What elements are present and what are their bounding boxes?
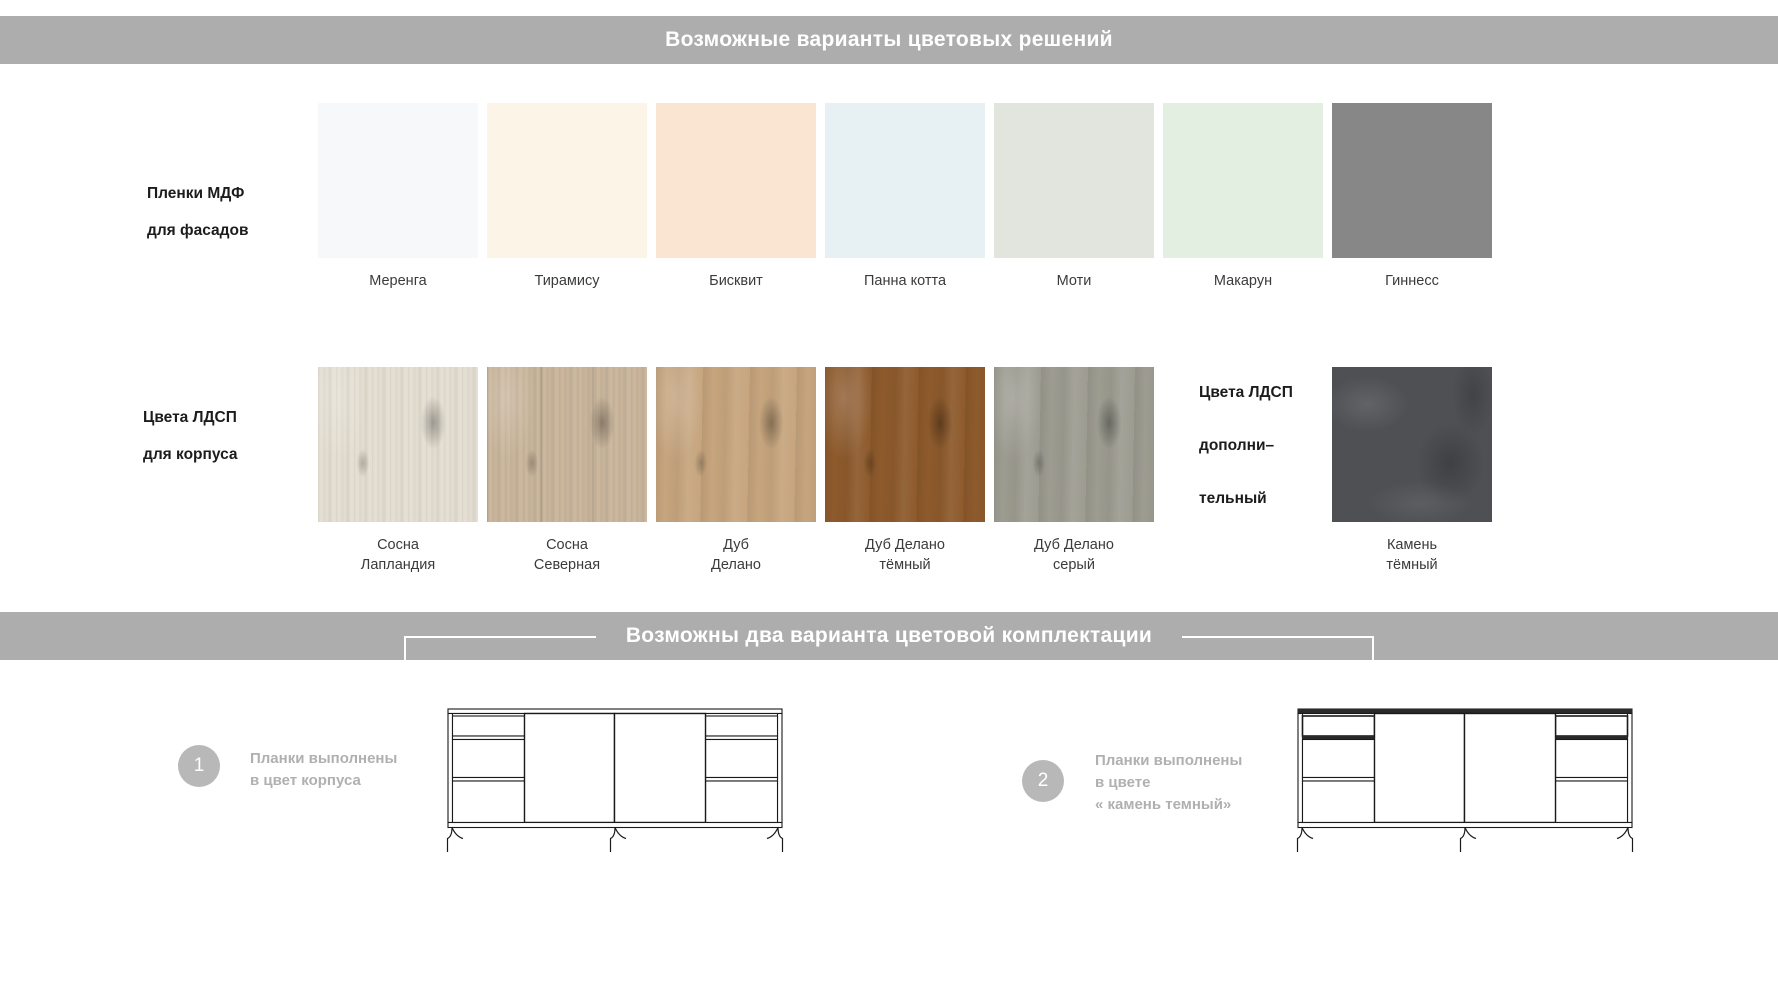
mdf-section-label-line2: для фасадов bbox=[147, 213, 248, 249]
swatch-merenga[interactable] bbox=[318, 103, 478, 258]
option-2-badge[interactable]: 2 bbox=[1022, 760, 1064, 802]
sideboard-drawing-variant-2 bbox=[1280, 700, 1650, 860]
stone-texture-layer bbox=[1332, 367, 1492, 522]
wood-knot-layer bbox=[487, 367, 647, 522]
option-1-number: 1 bbox=[194, 755, 205, 777]
swatch-caption-kamen-temnyy: Камень тёмный bbox=[1317, 535, 1507, 575]
ldsp-section-label-line1: Цвета ЛДСП bbox=[143, 400, 237, 436]
swatch-caption-sosna-laplandiya: Сосна Лапландия bbox=[303, 535, 493, 575]
swatch-makarun[interactable] bbox=[1163, 103, 1323, 258]
swatch-caption-sosna-severnaya: Сосна Северная bbox=[472, 535, 662, 575]
swatch-caption-makarun: Макарун bbox=[1148, 271, 1338, 291]
swatch-ginness[interactable] bbox=[1332, 103, 1492, 258]
swatch-moti[interactable] bbox=[994, 103, 1154, 258]
swatch-caption-biskvit: Бисквит bbox=[641, 271, 831, 291]
swatch-kamen-temnyy[interactable] bbox=[1332, 367, 1492, 522]
top-banner-title: Возможные варианты цветовых решений bbox=[665, 28, 1113, 52]
option-1-text: Планки выполнены в цвет корпуса bbox=[250, 748, 397, 792]
swatch-caption-tiramisu: Тирамису bbox=[472, 271, 662, 291]
swatch-biskvit[interactable] bbox=[656, 103, 816, 258]
ldsp-extra-label-line2: дополни– bbox=[1199, 428, 1274, 464]
mdf-section-label-line1: Пленки МДФ bbox=[147, 176, 244, 212]
swatch-panna-kotta[interactable] bbox=[825, 103, 985, 258]
swatch-caption-ginness: Гиннесс bbox=[1317, 271, 1507, 291]
wood-knot-layer bbox=[656, 367, 816, 522]
option-2-number: 2 bbox=[1038, 770, 1049, 792]
option-2-text: Планки выполнены в цвете « камень темный… bbox=[1095, 750, 1242, 816]
ldsp-section-label-line2: для корпуса bbox=[143, 437, 238, 473]
ldsp-extra-label-line1: Цвета ЛДСП bbox=[1199, 375, 1293, 411]
swatch-tiramisu[interactable] bbox=[487, 103, 647, 258]
wood-knot-layer bbox=[994, 367, 1154, 522]
swatch-caption-dub-delano-temnyy: Дуб Делано тёмный bbox=[810, 535, 1000, 575]
option-1-badge[interactable]: 1 bbox=[178, 745, 220, 787]
swatch-sosna-severnaya[interactable] bbox=[487, 367, 647, 522]
top-banner: Возможные варианты цветовых решений bbox=[0, 16, 1778, 64]
swatch-caption-merenga: Меренга bbox=[303, 271, 493, 291]
swatch-dub-delano-seryy[interactable] bbox=[994, 367, 1154, 522]
swatch-caption-moti: Моти bbox=[979, 271, 1169, 291]
wood-knot-layer bbox=[318, 367, 478, 522]
swatch-caption-dub-delano: Дуб Делано bbox=[641, 535, 831, 575]
middle-banner: Возможны два варианта цветовой комплекта… bbox=[0, 612, 1778, 660]
swatch-sosna-laplandiya[interactable] bbox=[318, 367, 478, 522]
ldsp-extra-label-line3: тельный bbox=[1199, 481, 1267, 517]
color-options-page: Возможные варианты цветовых решений Плен… bbox=[0, 0, 1778, 1000]
swatch-caption-dub-delano-seryy: Дуб Делано серый bbox=[979, 535, 1169, 575]
middle-banner-title: Возможны два варианта цветовой комплекта… bbox=[626, 624, 1152, 648]
wood-knot-layer bbox=[825, 367, 985, 522]
swatch-dub-delano-temnyy[interactable] bbox=[825, 367, 985, 522]
swatch-caption-panna-kotta: Панна котта bbox=[810, 271, 1000, 291]
sideboard-drawing-variant-1 bbox=[430, 700, 800, 860]
swatch-dub-delano[interactable] bbox=[656, 367, 816, 522]
